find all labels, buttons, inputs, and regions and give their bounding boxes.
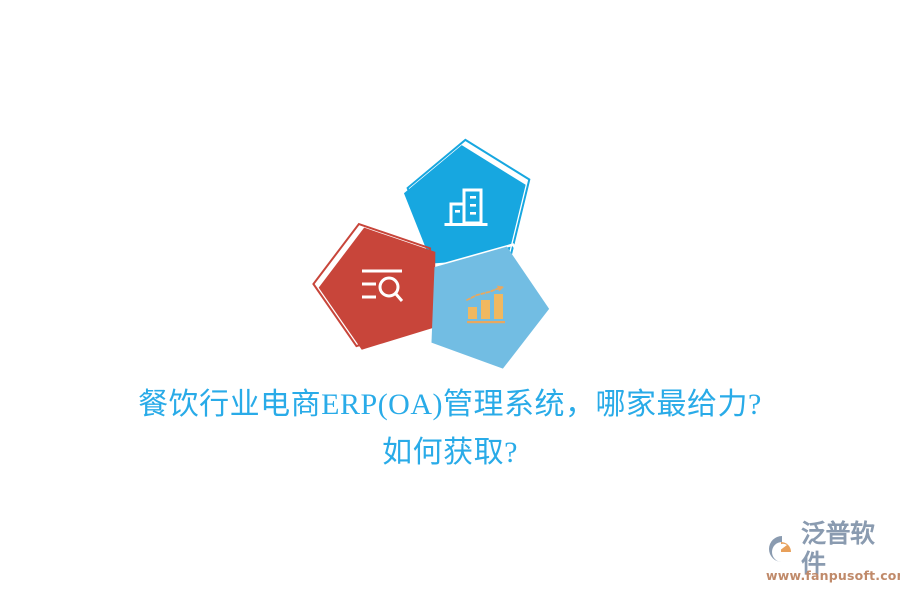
banner-page: 餐饮行业电商ERP(OA)管理系统，哪家最给力? 如何获取? 泛普软件 www.… bbox=[0, 0, 900, 600]
page-title-line-2: 如何获取? bbox=[0, 429, 900, 477]
fanpusoft-watermark: 泛普软件 www.fanpusoft.com bbox=[766, 531, 890, 589]
logo-url-text: www.fanpusoft.com bbox=[766, 568, 890, 583]
page-title-line-1: 餐饮行业电商ERP(OA)管理系统，哪家最给力? bbox=[0, 381, 900, 429]
fanpusoft-logo-icon bbox=[766, 533, 798, 565]
bar-chart-growth-icon bbox=[422, 240, 550, 368]
page-title: 餐饮行业电商ERP(OA)管理系统，哪家最给力? 如何获取? bbox=[0, 381, 900, 477]
logo-row: 泛普软件 bbox=[766, 531, 890, 567]
pentagon-icon-cluster bbox=[318, 142, 550, 370]
pentagon-chart bbox=[404, 222, 568, 386]
